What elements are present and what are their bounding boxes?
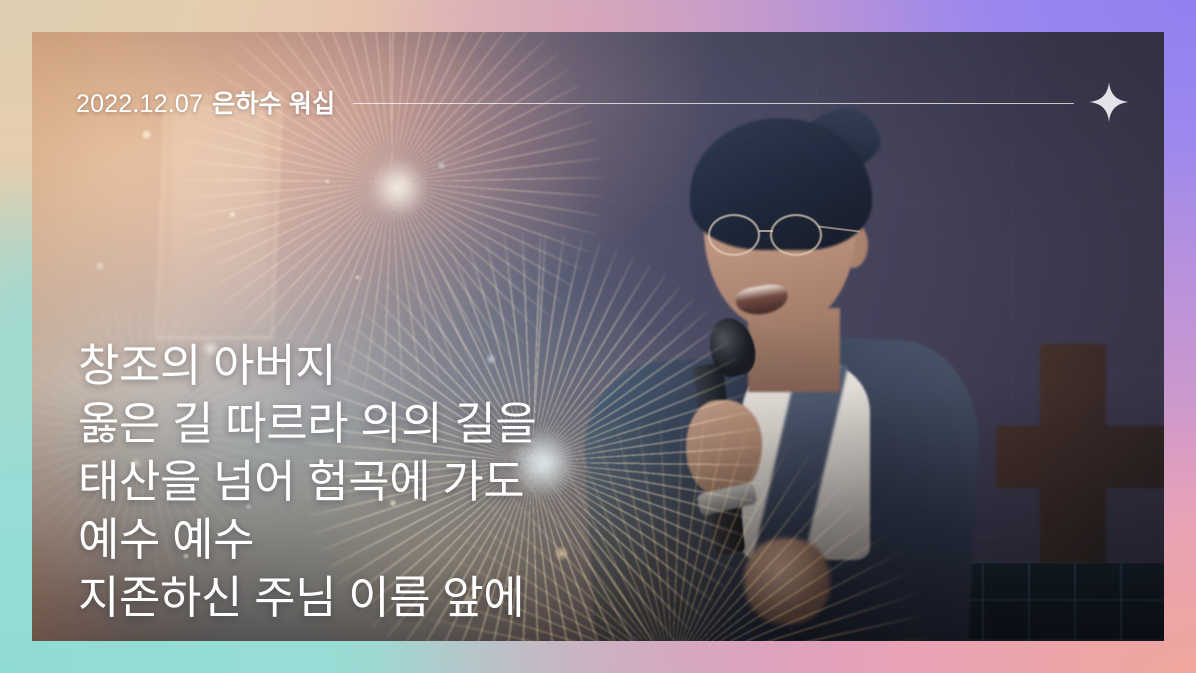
header-event-name: 은하수 워십 xyxy=(212,84,335,120)
lyrics-block: 창조의 아버지 옳은 길 따르라 의의 길을 태산을 넘어 험곡에 가도 예수 … xyxy=(78,337,1078,627)
lyric-line: 예수 예수 xyxy=(78,511,1078,569)
lyric-line: 태산을 넘어 험곡에 가도 xyxy=(78,453,1078,511)
sparkle-icon xyxy=(1086,79,1132,125)
lyric-line: 지존하신 주님 이름 앞에 xyxy=(78,569,1078,627)
header-date: 2022.12.07 xyxy=(76,90,203,119)
header-rule xyxy=(353,103,1074,104)
video-frame: 2022.12.07 은하수 워십 창조의 아버지 옳은 길 따르라 의의 길을… xyxy=(32,32,1164,641)
lyric-line: 창조의 아버지 xyxy=(78,337,1078,395)
header: 2022.12.07 은하수 워십 xyxy=(76,80,1132,124)
header-title: 2022.12.07 은하수 워십 xyxy=(76,84,335,120)
slide-stage: 2022.12.07 은하수 워십 창조의 아버지 옳은 길 따르라 의의 길을… xyxy=(0,0,1196,673)
lyric-line: 옳은 길 따르라 의의 길을 xyxy=(78,395,1078,453)
